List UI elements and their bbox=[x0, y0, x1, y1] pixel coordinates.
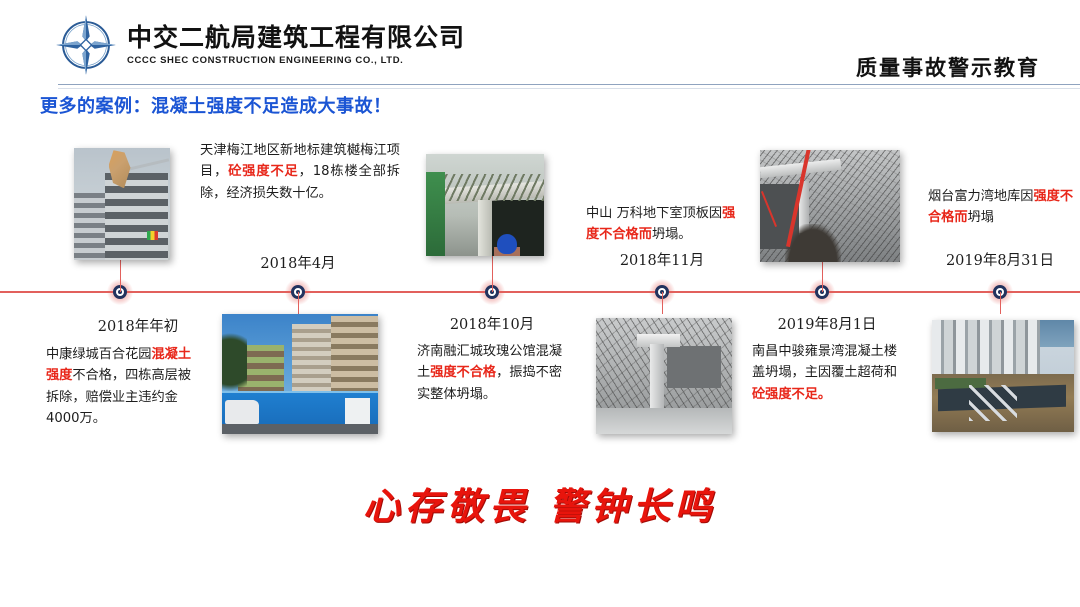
event-text-4-run-2: 坍塌。 bbox=[652, 227, 692, 242]
timeline-stem-3 bbox=[492, 250, 493, 292]
event-text-3: 济南融汇城玫瑰公馆混凝土强度不合格，振捣不密实整体坍塌。 bbox=[417, 341, 574, 405]
header-divider-rule-secondary bbox=[58, 88, 1080, 89]
company-logo-block: 中交二航局建筑工程有限公司 CCCC SHEC CONSTRUCTION ENG… bbox=[55, 14, 465, 76]
slide-header-title: 质量事故警示教育 bbox=[856, 52, 1040, 82]
event-date-4: 2018年11月 bbox=[602, 249, 722, 270]
timeline-stem-6 bbox=[1000, 292, 1001, 314]
slide-canvas: 中交二航局建筑工程有限公司 CCCC SHEC CONSTRUCTION ENG… bbox=[0, 0, 1080, 607]
company-name-en: CCCC SHEC CONSTRUCTION ENGINEERING CO., … bbox=[127, 55, 465, 66]
event-date-3: 2018年10月 bbox=[432, 313, 552, 334]
event-text-2: 天津梅江地区新地标建筑樾梅江项目，砼强度不足，18栋楼全部拆除，经济损失数十亿。 bbox=[200, 140, 400, 204]
event-text-4: 中山 万科地下室顶板因强度不合格而坍塌。 bbox=[586, 203, 744, 246]
event-text-4-run-0: 中山 万科地下室顶板因 bbox=[586, 206, 722, 221]
company-name-cn: 中交二航局建筑工程有限公司 bbox=[127, 24, 465, 53]
event-text-6: 烟台富力湾地库因强度不合格而坍塌 bbox=[928, 186, 1076, 229]
event-date-1: 2018年年初 bbox=[78, 315, 198, 336]
event-photo-collapsed-slab-green-mesh bbox=[426, 154, 544, 256]
event-text-5: 南昌中骏雍景湾混凝土楼盖坍塌，主因覆土超荷和砼强度不足。 bbox=[752, 341, 904, 405]
timeline-stem-2 bbox=[298, 292, 299, 314]
event-text-6-run-2: 坍塌 bbox=[968, 210, 994, 225]
event-date-5: 2019年8月1日 bbox=[762, 313, 892, 334]
slide-slogan: 心存敬畏 警钟长鸣 bbox=[0, 476, 1080, 530]
section-title: 更多的案例：混凝土强度不足造成大事故！ bbox=[40, 92, 392, 118]
event-date-2: 2018年4月 bbox=[238, 252, 358, 273]
event-text-2-run-1: 砼强度不足 bbox=[228, 164, 298, 179]
cccc-compass-logo-icon bbox=[55, 14, 117, 76]
event-photo-yantai-fuliwan-garage-collapse bbox=[932, 320, 1074, 432]
company-name-block: 中交二航局建筑工程有限公司 CCCC SHEC CONSTRUCTION ENG… bbox=[127, 24, 465, 67]
event-photo-demolished-highrise-tower-crane bbox=[74, 148, 170, 260]
event-text-1: 中康绿城百合花园混凝土强度不合格，四栋高层被拆除，赔偿业主违约金4000万。 bbox=[46, 344, 204, 430]
event-date-6: 2019年8月31日 bbox=[930, 249, 1070, 270]
event-text-6-run-0: 烟台富力湾地库因 bbox=[928, 189, 1034, 204]
event-photo-tianjin-meijiang-site bbox=[222, 314, 378, 434]
event-text-3-run-1: 强度不合格 bbox=[430, 365, 496, 380]
timeline-axis bbox=[0, 291, 1080, 293]
timeline-stem-4 bbox=[662, 292, 663, 314]
event-text-1-run-0: 中康绿城百合花园 bbox=[46, 347, 152, 362]
event-photo-nanchang-zhongjun-garage-collapse bbox=[760, 150, 900, 262]
event-text-5-run-1: 砼强度不足。 bbox=[752, 387, 831, 402]
event-text-5-run-0: 南昌中骏雍景湾混凝土楼盖坍塌，主因覆土超荷和 bbox=[752, 344, 897, 380]
event-photo-zhongshan-vanke-basement-collapse bbox=[596, 318, 732, 434]
